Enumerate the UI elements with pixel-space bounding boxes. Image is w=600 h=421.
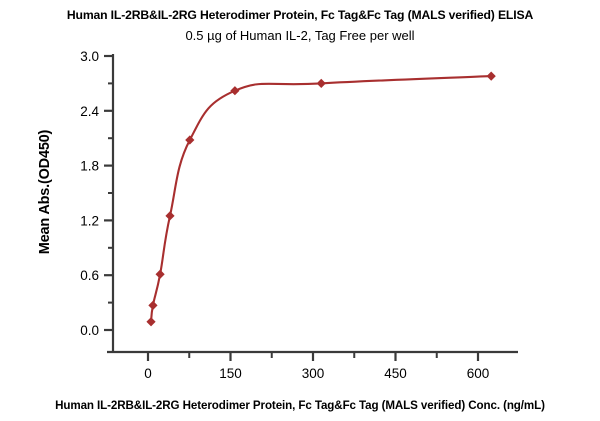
x-tick-label: 0 xyxy=(144,366,152,381)
data-point-marker xyxy=(185,135,194,144)
data-point-marker xyxy=(230,86,239,95)
y-tick-label: 2.4 xyxy=(80,104,99,119)
data-point-marker xyxy=(148,301,157,310)
data-point-marker xyxy=(165,211,174,220)
data-point-marker xyxy=(156,270,165,279)
fit-curve xyxy=(151,76,491,322)
data-point-marker xyxy=(317,79,326,88)
y-tick-label: 1.8 xyxy=(80,159,99,174)
y-tick-label: 0.0 xyxy=(80,323,99,338)
data-point-marker xyxy=(487,71,496,80)
x-tick-label: 300 xyxy=(302,366,325,381)
x-tick-label: 450 xyxy=(384,366,407,381)
chart-figure: Human IL-2RB&IL-2RG Heterodimer Protein,… xyxy=(0,0,600,421)
data-point-marker xyxy=(146,317,155,326)
x-tick-label: 150 xyxy=(219,366,242,381)
y-tick-label: 1.2 xyxy=(80,213,99,228)
x-tick-label: 600 xyxy=(467,366,490,381)
y-tick-label: 3.0 xyxy=(80,49,99,64)
y-tick-label: 0.6 xyxy=(80,268,99,283)
plot-area: 0.00.61.21.82.43.00150300450600 xyxy=(0,0,600,421)
x-axis-label: Human IL-2RB&IL-2RG Heterodimer Protein,… xyxy=(0,399,600,412)
